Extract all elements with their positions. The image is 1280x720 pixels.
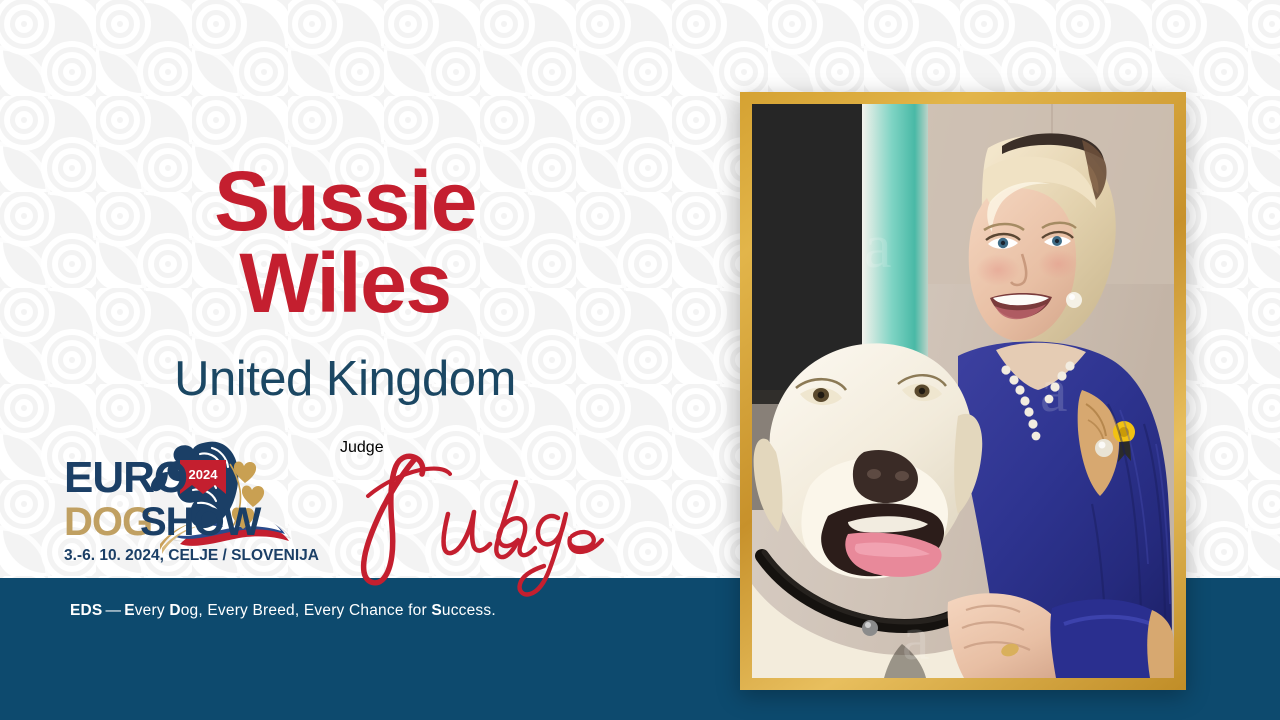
- svg-text:2024: 2024: [189, 467, 219, 482]
- judge-full-name: Sussie Wiles: [0, 160, 690, 325]
- tagline-cap-e: E: [124, 602, 135, 619]
- tagline-cap-s: S: [431, 602, 442, 619]
- judge-country: United Kingdom: [0, 351, 690, 407]
- logo-word-dog: DOG: [64, 500, 152, 544]
- tagline-part1: very: [135, 602, 170, 619]
- event-tagline: EDS—Every Dog, Every Breed, Every Chance…: [70, 602, 496, 620]
- tagline-part3: uccess.: [442, 602, 496, 619]
- logo-word-show: SHOW: [140, 500, 262, 544]
- tagline-dash: —: [102, 602, 124, 619]
- judge-last-name: Wiles: [0, 242, 690, 324]
- tagline-cap-d: D: [169, 602, 180, 619]
- euro-dog-show-logo: 2024 EURO DOG SHOW 3.-6. 10. 2024, CELJE…: [62, 432, 302, 580]
- judge-name-block: Sussie Wiles United Kingdom: [0, 160, 690, 407]
- judge-first-name: Sussie: [0, 160, 690, 242]
- logo-word-euro: EURO: [64, 453, 187, 502]
- judge-photo: a a a: [752, 104, 1174, 678]
- tagline-prefix: EDS: [70, 602, 102, 619]
- poster-canvas: Sussie Wiles United Kingdom: [0, 0, 1280, 720]
- judge-photo-frame: a a a: [740, 92, 1186, 690]
- tagline-part2: og, Every Breed, Every Chance for: [181, 602, 432, 619]
- logo-dates: 3.-6. 10. 2024, CELJE / SLOVENIJA: [64, 547, 319, 564]
